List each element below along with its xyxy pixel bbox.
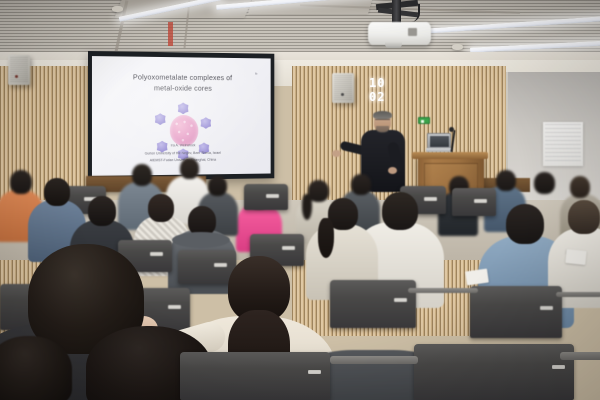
ceiling-beam bbox=[168, 22, 173, 46]
speaker-indicator-dot bbox=[15, 75, 18, 78]
clock-time-display: 10 02 bbox=[369, 82, 403, 98]
lecture-hall-photo: 10 02 Polyoxometalate complexes of metal… bbox=[0, 0, 600, 400]
person-head bbox=[208, 176, 227, 196]
polyoxometalate-cap bbox=[154, 113, 166, 125]
person-head bbox=[180, 158, 199, 179]
projector-pole bbox=[392, 0, 401, 24]
person-head bbox=[570, 176, 590, 198]
wall-poster bbox=[543, 122, 583, 166]
auditorium-seat bbox=[244, 184, 288, 210]
person-head bbox=[534, 172, 555, 194]
poster-texture bbox=[545, 124, 581, 164]
wall-speaker-left bbox=[8, 55, 30, 85]
person-head bbox=[568, 200, 600, 234]
presenter-hair bbox=[373, 111, 392, 119]
person-head bbox=[44, 178, 70, 206]
ponytail bbox=[318, 218, 334, 258]
presenter-beard bbox=[376, 126, 389, 133]
speaker-grill bbox=[334, 75, 352, 101]
presenter-right-hand bbox=[388, 167, 397, 174]
auditorium-seat bbox=[178, 250, 236, 284]
core-atom-texture bbox=[172, 117, 197, 144]
auditorium-seat bbox=[330, 280, 416, 328]
projection-screen: Polyoxometalate complexes of metal-oxide… bbox=[92, 56, 271, 176]
eyeglasses-icon bbox=[375, 119, 390, 122]
microphone-head-icon bbox=[449, 127, 454, 132]
presenter-left-hand bbox=[332, 150, 341, 157]
person-head bbox=[10, 170, 32, 194]
slide-charge-label: n- bbox=[255, 72, 258, 76]
smoke-detector-icon bbox=[452, 44, 463, 50]
speaker-indicator-dot bbox=[341, 93, 344, 96]
projector-vent bbox=[408, 28, 417, 36]
seat-armrest bbox=[556, 292, 600, 297]
ponytail bbox=[302, 194, 312, 220]
auditorium-seat bbox=[414, 344, 574, 400]
laptop-base bbox=[426, 148, 452, 152]
auditorium-seat bbox=[452, 188, 496, 216]
slide-title-line2: metal-oxide cores bbox=[100, 82, 263, 94]
handout-sheet bbox=[565, 249, 586, 265]
speaker-grill bbox=[10, 57, 28, 83]
person-head bbox=[506, 204, 544, 244]
projector-lens bbox=[385, 42, 402, 48]
seat-armrest bbox=[560, 352, 600, 360]
person-head bbox=[88, 196, 116, 226]
presenter-laptop bbox=[427, 133, 451, 149]
polyoxometalate-cap bbox=[177, 102, 188, 114]
person-head bbox=[496, 170, 516, 191]
seat-armrest bbox=[330, 356, 418, 364]
exit-sign-icon bbox=[418, 117, 430, 124]
laptop-screen bbox=[430, 136, 449, 147]
person-head bbox=[148, 194, 174, 222]
presentation-slide: Polyoxometalate complexes of metal-oxide… bbox=[92, 56, 271, 176]
smoke-detector-icon bbox=[112, 6, 123, 12]
auditorium-seat bbox=[470, 286, 562, 338]
polyoxometalate-cap bbox=[200, 117, 211, 129]
digital-wall-clock: 10 02 bbox=[369, 82, 403, 98]
seat-armrest bbox=[408, 288, 478, 293]
auditorium-seat bbox=[180, 352, 330, 400]
person-head bbox=[382, 192, 418, 230]
slide-title: Polyoxometalate complexes of metal-oxide… bbox=[100, 71, 263, 94]
hoodie-collar bbox=[172, 232, 230, 248]
lectern-top bbox=[412, 152, 488, 159]
wall-speaker-center bbox=[332, 73, 354, 103]
person-head bbox=[351, 174, 371, 195]
person-head bbox=[132, 164, 152, 186]
